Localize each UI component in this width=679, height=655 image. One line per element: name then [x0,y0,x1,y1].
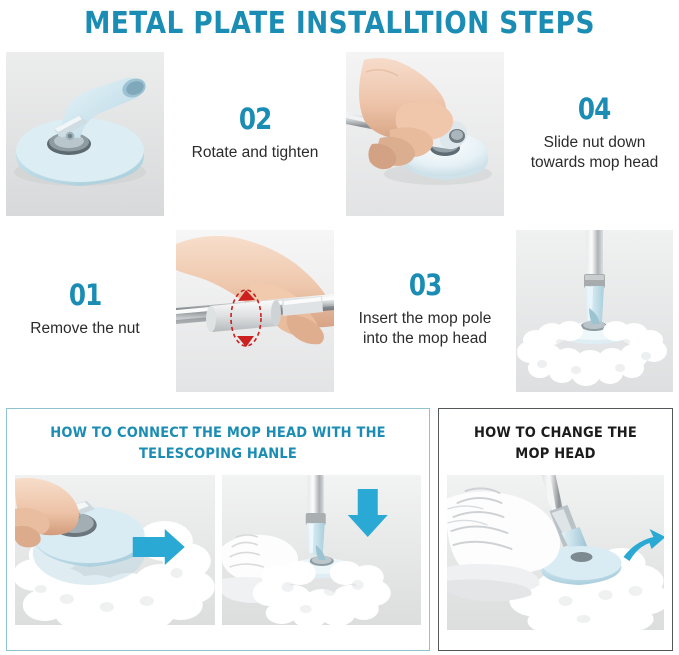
step-label-01: Remove the nut [30,319,139,339]
panel-connect-mop-head: HOW TO CONNECT THE MOP HEAD WITH THE TEL… [6,408,430,651]
steps-grid: 02 Rotate and tighten [0,46,679,398]
panel-connect-heading-line2: TELESCOPING HANLE [139,446,297,462]
step-number-01: 01 [69,281,102,310]
panel-change-heading-line1: HOW TO CHANGE THE [474,425,637,441]
grid-cell-step04-photo [510,222,679,398]
grid-cell-step04-caption: 04 Slide nut down towards mop head [510,46,679,222]
panel-change-heading: HOW TO CHANGE THE MOP HEAD [451,409,661,475]
page-title: METAL PLATE INSTALLTION STEPS [41,0,639,46]
panel-connect-heading: HOW TO CONNECT THE MOP HEAD WITH THE TEL… [28,409,408,475]
grid-cell-step01-caption: 01 Remove the nut [0,222,170,398]
hand-inserting-pole-photo [346,52,504,216]
bottom-panels: HOW TO CONNECT THE MOP HEAD WITH THE TEL… [0,404,679,655]
step-label-03: Insert the mop pole into the mop head [359,309,492,349]
grid-cell-step02-caption: 02 Rotate and tighten [170,46,340,222]
grid-cell-step03-caption: 03 Insert the mop pole into the mop head [340,222,510,398]
grid-cell-step03-photo [340,46,510,222]
grid-cell-step01-photo [0,46,170,222]
step-number-03: 03 [409,271,442,300]
mop-plate-with-nut-photo [6,52,164,216]
step-label-03-line1: Insert the mop pole [359,310,492,327]
step-number-02: 02 [239,105,272,134]
foot-holding-mop-head-photo [222,475,422,625]
assembled-mop-head-photo [516,230,673,392]
step-number-04: 04 [578,95,611,124]
hand-rotating-pole-photo [176,230,334,392]
foot-removing-mop-head-photo [447,475,664,630]
infographic-page: METAL PLATE INSTALLTION STEPS [0,0,679,655]
panel-connect-heading-line1: HOW TO CONNECT THE MOP HEAD WITH THE [50,425,386,441]
step-label-04: Slide nut down towards mop head [531,133,659,173]
step-label-04-line2: towards mop head [531,154,659,171]
step-label-03-line2: into the mop head [363,330,487,347]
panel-change-mop-head: HOW TO CHANGE THE MOP HEAD [438,408,673,651]
panel-change-heading-line2: MOP HEAD [515,446,595,462]
step-label-04-line1: Slide nut down [544,134,646,151]
step-label-02: Rotate and tighten [192,143,319,163]
hand-pressing-plate-onto-mop-photo [15,475,215,625]
grid-cell-step02-photo [170,222,340,398]
